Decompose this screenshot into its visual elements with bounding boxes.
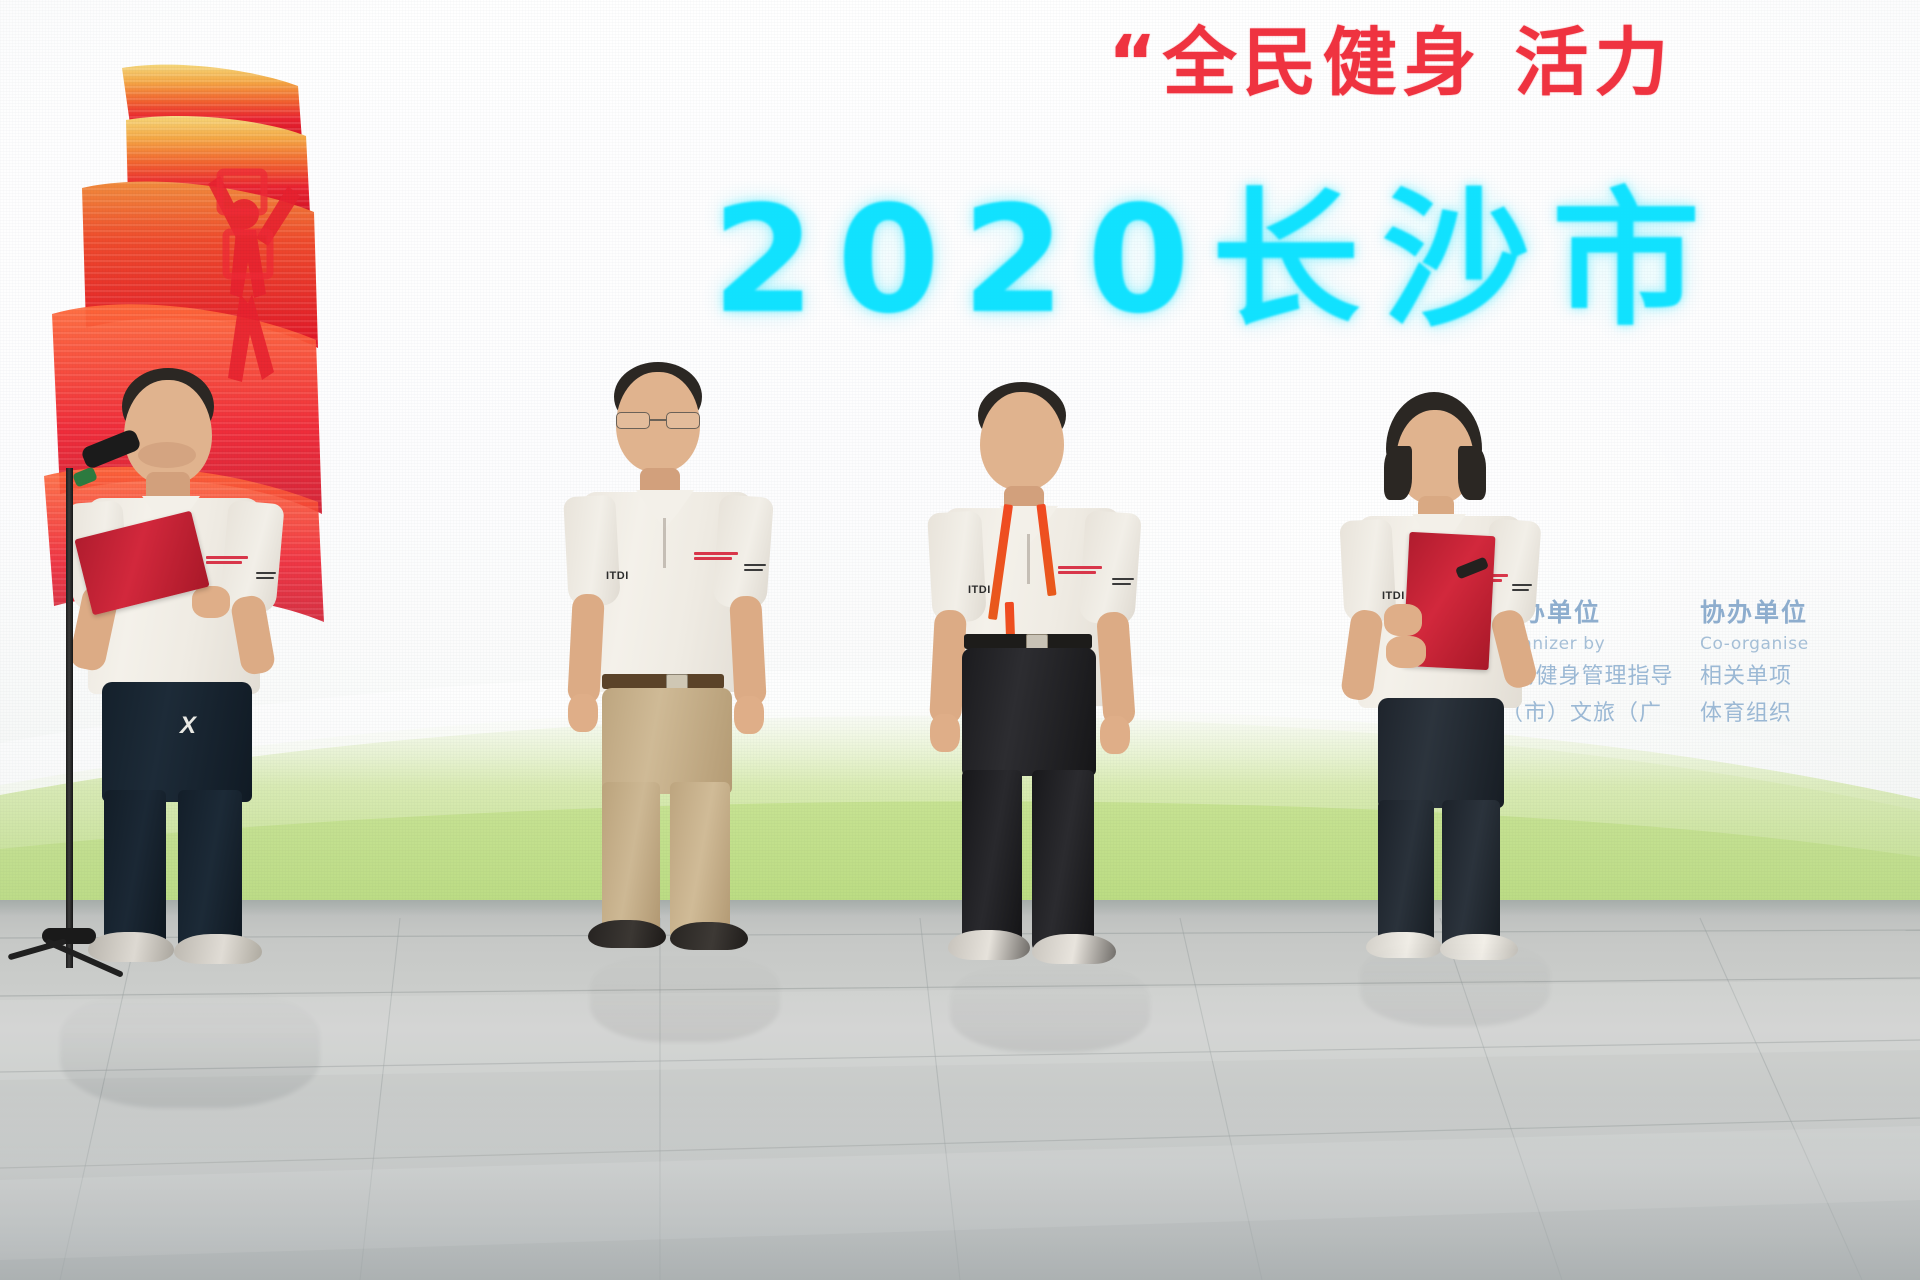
floor-reflection-gloss (0, 1090, 1920, 1280)
official3-sleeve-left (927, 511, 987, 624)
official2-logo-event (694, 552, 742, 560)
speaker-pants-brand-glyph: X (180, 712, 206, 736)
official3-placket (1027, 534, 1030, 584)
person-official-badge: GUESTS 嘉宾证 ITDI (930, 378, 1140, 970)
credits-coorganizer-title-en: Co-organise (1700, 633, 1920, 656)
official3-logo-itdi: ITDI (968, 584, 991, 596)
official4-logo-itdi: ITDI (1382, 590, 1405, 602)
official2-arm-right (729, 595, 767, 707)
credits-coorganizer-title-cn: 协办单位 (1700, 596, 1920, 630)
official2-hand-right (734, 696, 764, 734)
event-stage-photo: “全民健身 活力 2020长沙市 承办单位 Organizer by 长沙市全民… (0, 0, 1920, 1280)
reflection-official4 (1360, 940, 1550, 1026)
official2-hand-left (568, 694, 598, 732)
official3-hand-left (930, 714, 960, 752)
title-teal-text: 2020长沙市 (712, 186, 1722, 334)
official2-sleeve-stripes (744, 564, 766, 574)
official2-pants (602, 688, 732, 794)
official3-hand-right (1100, 716, 1130, 754)
official2-arm-left (567, 593, 605, 705)
reflection-official2 (590, 952, 780, 1042)
microphone-pole (66, 468, 73, 968)
official4-hand-right (1386, 636, 1426, 668)
speaker-shoe-right (174, 934, 262, 964)
credits-coorganizer-line-2: 体育组织 (1700, 699, 1920, 728)
person-official-female: ITDI (1340, 392, 1550, 972)
official3-leg-right (1032, 770, 1094, 952)
official4-leg-right (1442, 800, 1500, 950)
speaker-hand-right (192, 586, 230, 618)
official3-pants (962, 648, 1096, 776)
speaker-shoe-left (88, 932, 174, 962)
official2-shoe-right (670, 922, 748, 950)
credits-coorganizer-line-1: 相关单项 (1700, 662, 1920, 691)
headline-red-text: “全民健身 活力 (1108, 26, 1674, 100)
official3-sleeve-stripes (1112, 578, 1134, 588)
official2-placket (663, 518, 666, 568)
official4-hand-left (1384, 604, 1422, 636)
official2-logo-itdi: ITDI (606, 570, 629, 582)
glasses-icon (616, 410, 702, 430)
official3-shoe-right (1032, 934, 1116, 964)
official3-shoe-left (948, 930, 1030, 960)
official3-head (980, 392, 1064, 490)
person-official-glasses: ITDI (566, 358, 776, 958)
speaker-logo-event (206, 556, 252, 564)
official2-shoe-left (588, 920, 666, 948)
credits-coorganizer: 协办单位 Co-organise 相关单项 体育组织 (1700, 596, 1920, 728)
official4-hair-side-right (1458, 446, 1486, 500)
official2-leg-right (670, 782, 730, 940)
official3-logo-event (1058, 566, 1106, 574)
reflection-official3 (950, 962, 1150, 1052)
speaker-leg-left (104, 790, 166, 950)
official2-sleeve-left (563, 495, 621, 608)
speaker-mouth-area (138, 442, 196, 468)
speaker-sleeve-stripes (256, 572, 276, 582)
speaker-pants (102, 682, 252, 802)
official4-pants (1378, 698, 1504, 808)
speaker-head (124, 380, 212, 484)
reflection-speaker (60, 988, 320, 1108)
official2-leg-left (602, 782, 660, 940)
official4-sleeve-stripes (1512, 584, 1532, 594)
official3-arm-right (1096, 611, 1136, 727)
official4-leg-left (1378, 800, 1434, 950)
official3-leg-left (962, 770, 1022, 952)
speaker-leg-right (178, 790, 242, 950)
official4-hair-side-left (1384, 446, 1412, 500)
official2-belt (602, 674, 724, 689)
